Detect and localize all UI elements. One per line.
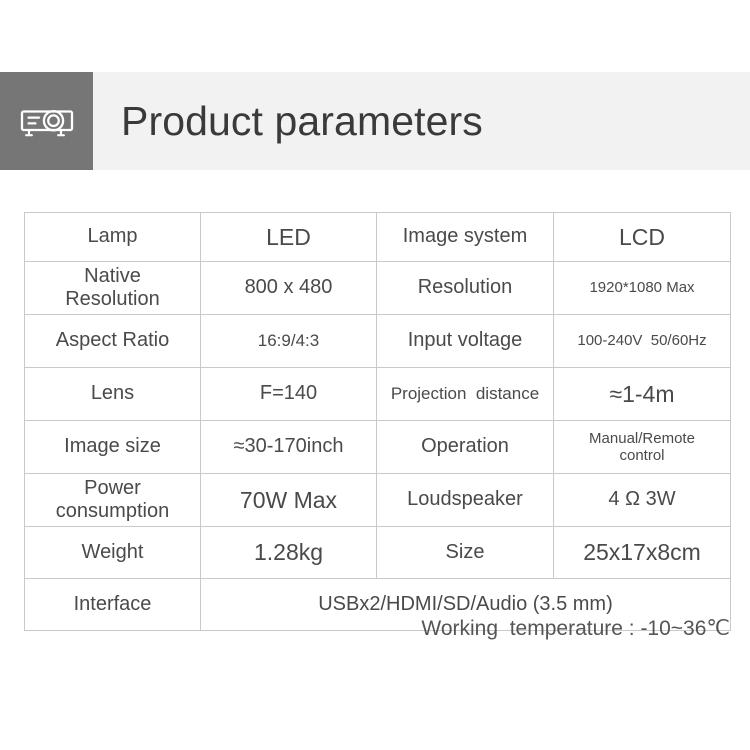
cell-label-aspect-ratio: Aspect Ratio bbox=[25, 315, 201, 368]
table-row: Lens F=140 Projection distance ≈1-4m bbox=[25, 368, 731, 421]
table-row: Native Resolution 800 x 480 Resolution 1… bbox=[25, 262, 731, 315]
cell-label-input-voltage: Input voltage bbox=[377, 315, 554, 368]
cell-value-input-voltage: 100-240V 50/60Hz bbox=[554, 315, 731, 368]
cell-value-size: 25x17x8cm bbox=[554, 527, 731, 579]
cell-value-image-size: ≈30-170inch bbox=[201, 421, 377, 474]
cell-label-size: Size bbox=[377, 527, 554, 579]
cell-label-loudspeaker: Loudspeaker bbox=[377, 474, 554, 527]
table-row: Weight 1.28kg Size 25x17x8cm bbox=[25, 527, 731, 579]
cell-value-image-system: LCD bbox=[554, 213, 731, 262]
page-header-band: Product parameters bbox=[0, 72, 750, 170]
table-row: Image size ≈30-170inch Operation Manual/… bbox=[25, 421, 731, 474]
cell-value-power-consumption: 70W Max bbox=[201, 474, 377, 527]
header-title-wrap: Product parameters bbox=[93, 72, 750, 170]
cell-value-lamp: LED bbox=[201, 213, 377, 262]
cell-value-native-resolution: 800 x 480 bbox=[201, 262, 377, 315]
working-temperature-note: Working temperature : -10~36℃ bbox=[0, 616, 730, 641]
table-row: Power consumption 70W Max Loudspeaker 4 … bbox=[25, 474, 731, 527]
cell-label-native-resolution: Native Resolution bbox=[25, 262, 201, 315]
header-icon-block bbox=[0, 72, 93, 170]
cell-value-lens: F=140 bbox=[201, 368, 377, 421]
cell-value-loudspeaker: 4 Ω 3W bbox=[554, 474, 731, 527]
cell-label-image-size: Image size bbox=[25, 421, 201, 474]
cell-label-power-consumption: Power consumption bbox=[25, 474, 201, 527]
cell-label-projection-distance: Projection distance bbox=[377, 368, 554, 421]
cell-value-resolution: 1920*1080 Max bbox=[554, 262, 731, 315]
cell-label-image-system: Image system bbox=[377, 213, 554, 262]
cell-label-resolution: Resolution bbox=[377, 262, 554, 315]
cell-value-projection-distance: ≈1-4m bbox=[554, 368, 731, 421]
table-row: Lamp LED Image system LCD bbox=[25, 213, 731, 262]
product-parameters-table: Lamp LED Image system LCD Native Resolut… bbox=[24, 212, 731, 631]
page-title: Product parameters bbox=[121, 101, 483, 142]
projector-icon bbox=[20, 103, 74, 139]
table-row: Aspect Ratio 16:9/4:3 Input voltage 100-… bbox=[25, 315, 731, 368]
cell-label-lamp: Lamp bbox=[25, 213, 201, 262]
cell-label-operation: Operation bbox=[377, 421, 554, 474]
cell-value-aspect-ratio: 16:9/4:3 bbox=[201, 315, 377, 368]
cell-value-operation: Manual/Remote control bbox=[554, 421, 731, 474]
cell-label-lens: Lens bbox=[25, 368, 201, 421]
cell-value-weight: 1.28kg bbox=[201, 527, 377, 579]
cell-label-weight: Weight bbox=[25, 527, 201, 579]
